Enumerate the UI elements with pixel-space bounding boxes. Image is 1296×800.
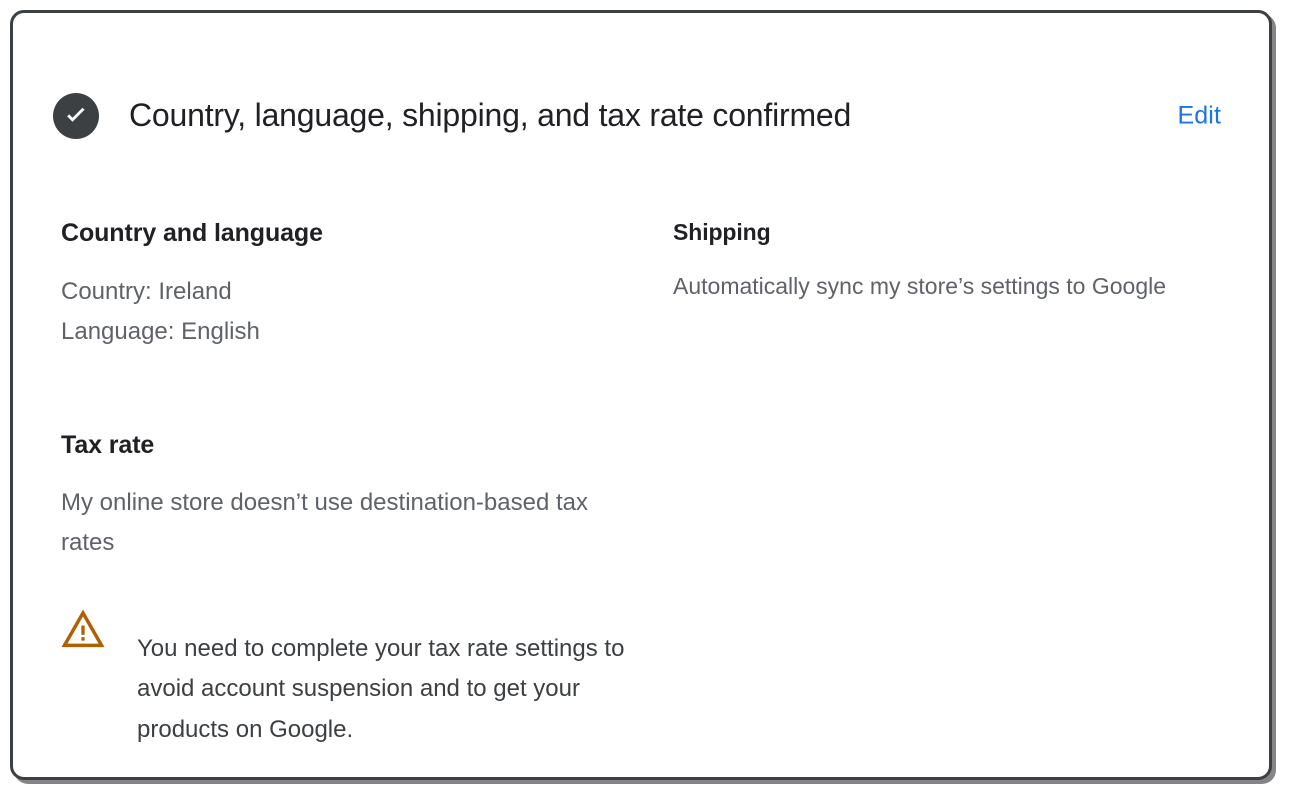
country-language-values: Country: Ireland Language: English <box>61 272 673 352</box>
shipping-heading: Shipping <box>673 218 1221 247</box>
section-tax-rate: Tax rate My online store doesn’t use des… <box>51 430 673 774</box>
screen: Country, language, shipping, and tax rat… <box>0 0 1296 800</box>
country-language-heading: Country and language <box>61 218 673 249</box>
right-column: Shipping Automatically sync my store’s s… <box>673 218 1221 774</box>
card-content: Country, language, shipping, and tax rat… <box>13 13 1269 777</box>
confirmation-card: Country, language, shipping, and tax rat… <box>10 10 1272 780</box>
tax-rate-heading: Tax rate <box>61 430 673 461</box>
edit-button[interactable]: Edit <box>1178 101 1221 130</box>
left-column: Country and language Country: Ireland La… <box>51 218 673 774</box>
check-circle-icon <box>53 93 99 139</box>
tax-rate-value: My online store doesn’t use destination-… <box>61 483 606 563</box>
section-country-language: Country and language Country: Ireland La… <box>51 218 673 351</box>
warning-message: You need to complete your tax rate setti… <box>137 629 637 750</box>
country-value: Country: Ireland <box>61 278 232 305</box>
tax-rate-warning: You need to complete your tax rate setti… <box>61 605 673 774</box>
section-shipping: Shipping Automatically sync my store’s s… <box>673 218 1221 306</box>
page-title: Country, language, shipping, and tax rat… <box>129 96 851 134</box>
warning-triangle-icon <box>61 609 105 649</box>
details-columns: Country and language Country: Ireland La… <box>51 218 1221 774</box>
card-header: Country, language, shipping, and tax rat… <box>51 75 1221 156</box>
language-value: Language: English <box>61 318 260 345</box>
shipping-value: Automatically sync my store’s settings t… <box>673 267 1213 307</box>
